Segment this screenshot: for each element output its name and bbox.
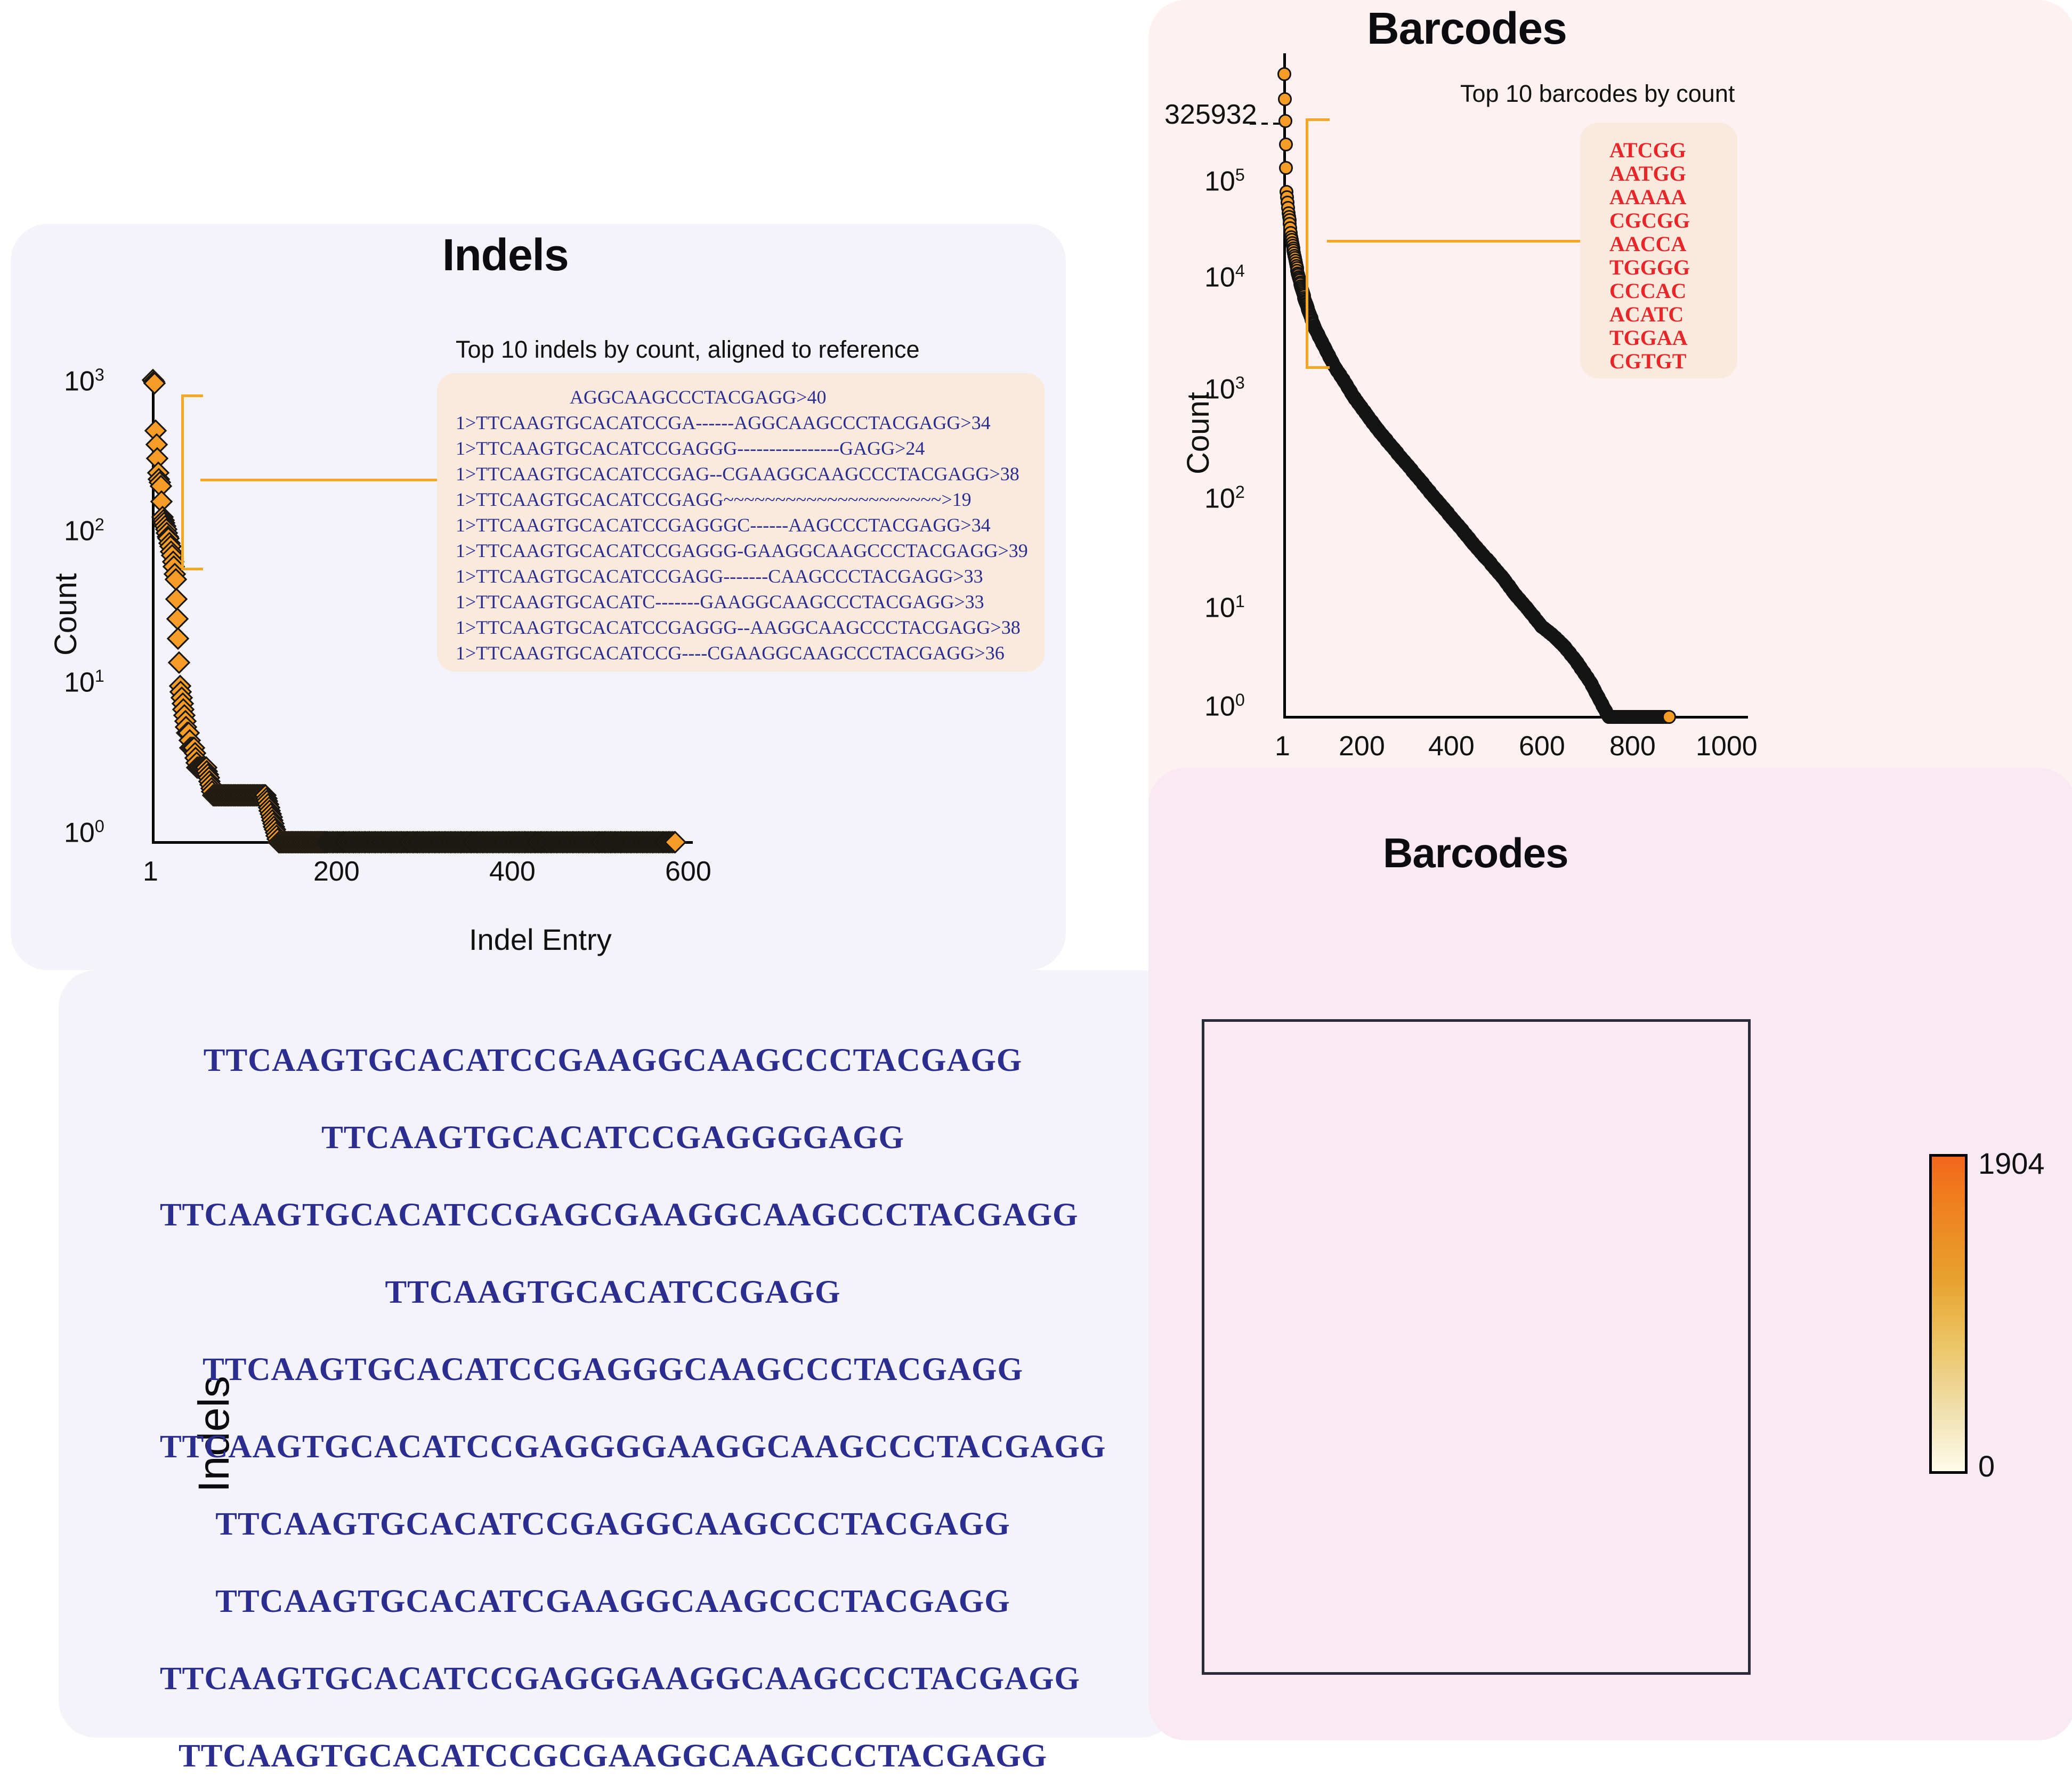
indel-xtick-1: 1 <box>143 856 158 887</box>
barcode-point <box>1278 114 1292 128</box>
barcode-list-item: CCCAC <box>1609 278 1686 303</box>
barcode-xtick-200: 200 <box>1339 730 1385 762</box>
barcode-list-item: TGGAA <box>1609 325 1688 350</box>
barcode-ytick-1e1: 101 <box>1204 592 1245 624</box>
indel-alignment-line: 1>TTCAAGTGCACATCCGAG--CGAAGGCAAGCCCTACGA… <box>456 463 1019 485</box>
indel-xtick-400: 400 <box>489 856 536 887</box>
indel-alignment-line: 1>TTCAAGTGCACATCCGA------AGGCAAGCCCTACGA… <box>456 412 991 434</box>
indel-sequence-row: TTCAAGTGCACATCCGAGGGAAGGCAAGCCCTACGAGG <box>160 1660 1066 1698</box>
barcode-inset-title: Top 10 barcodes by count <box>1460 80 1735 108</box>
indel-callout-bracket <box>181 394 203 570</box>
barcode-point <box>1279 138 1293 151</box>
indel-sequence-row: TTCAAGTGCACATCCGAAGGCAAGCCCTACGAGG <box>160 1042 1066 1079</box>
heatmap-title: Barcodes <box>1383 829 1568 877</box>
colorbar-max-label: 1904 <box>1978 1146 2045 1181</box>
indel-y-axis-label: Count <box>48 573 84 656</box>
indel-ytick-10: 101 <box>64 666 104 698</box>
barcode-y-axis-label: Count <box>1180 392 1216 474</box>
indel-ytick-100: 102 <box>64 515 104 547</box>
indel-sequence-row: TTCAAGTGCACATCCGCGAAGGCAAGCCCTACGAGG <box>160 1738 1066 1775</box>
indel-sequence-row: TTCAAGTGCACATCCGAGGCAAGCCCTACGAGG <box>160 1506 1066 1543</box>
indel-alignment-line: 1>TTCAAGTGCACATCCGAGGG-GAAGGCAAGCCCTACGA… <box>456 539 1028 562</box>
barcode-xtick-400: 400 <box>1428 730 1475 762</box>
barcode-list-item: ACATC <box>1609 302 1683 327</box>
barcode-xtick-800: 800 <box>1609 730 1656 762</box>
indel-sequence-row: TTCAAGTGCACATCCGAGG <box>160 1274 1066 1311</box>
indel-alignment-line: 1>TTCAAGTGCACATCCG----CGAAGGCAAGCCCTACGA… <box>456 642 1005 664</box>
barcode-point <box>1278 92 1292 106</box>
indel-sequence-row: TTCAAGTGCACATCCGAGGGGAGG <box>160 1119 1066 1157</box>
indel-sequence-row: TTCAAGTGCACATCGAAGGCAAGCCCTACGAGG <box>160 1583 1066 1620</box>
indel-alignment-line: 1>TTCAAGTGCACATCCGAGG~~~~~~~~~~~~~~~~~~~… <box>456 488 972 511</box>
indel-alignment-line: 1>TTCAAGTGCACATCCGAGGG----------------GA… <box>456 437 925 459</box>
barcodes-panel-title: Barcodes <box>1367 3 1567 54</box>
barcode-callout-line <box>1327 240 1582 243</box>
barcode-xtick-1000: 1000 <box>1696 730 1758 762</box>
indel-sequence-row: TTCAAGTGCACATCCGAGGGGAAGGCAAGCCCTACGAGG <box>160 1429 1066 1466</box>
barcode-list-item: AAAAA <box>1609 184 1686 209</box>
indel-inset-title: Top 10 indels by count, aligned to refer… <box>456 336 920 364</box>
indel-sequence-row: TTCAAGTGCACATCCGAGCGAAGGCAAGCCCTACGAGG <box>160 1197 1066 1234</box>
indel-xtick-200: 200 <box>313 856 360 887</box>
indel-x-axis-label: Indel Entry <box>469 922 612 957</box>
indel-sequence-row: TTCAAGTGCACATCCGAGGGCAAGCCCTACGAGG <box>160 1351 1066 1389</box>
barcode-xtick-1: 1 <box>1275 730 1290 762</box>
barcode-list-item: TGGGG <box>1609 255 1690 280</box>
barcode-ytick-1e4: 104 <box>1204 261 1245 293</box>
barcode-ytick-1e0: 100 <box>1204 690 1245 722</box>
indels-panel-title: Indels <box>442 229 569 281</box>
barcode-point <box>1662 710 1676 724</box>
barcode-list-item: CGCGG <box>1609 208 1690 233</box>
barcode-x-axis <box>1283 716 1748 719</box>
barcode-xtick-600: 600 <box>1519 730 1565 762</box>
barcode-indel-heatmap <box>1202 1019 1751 1675</box>
indel-alignment-line: 1>TTCAAGTGCACATCCGAGG-------CAAGCCCTACGA… <box>456 565 983 587</box>
indel-ytick-1: 100 <box>64 817 104 849</box>
barcode-list-item: ATCGG <box>1609 138 1686 163</box>
barcode-list-item: CGTGT <box>1609 349 1686 374</box>
barcode-list-item: AACCA <box>1609 231 1686 256</box>
barcode-ytick-dash <box>1250 123 1281 125</box>
indel-alignment-line: 1>TTCAAGTGCACATC-------GAAGGCAAGCCCTACGA… <box>456 591 984 613</box>
barcode-ytick-1e2: 102 <box>1204 482 1245 514</box>
barcode-ytick-325932: 325932 <box>1164 99 1257 131</box>
colorbar-min-label: 0 <box>1978 1449 1995 1483</box>
indel-alignment-line: AGGCAAGCCCTACGAGG>40 <box>456 386 826 408</box>
indel-ytick-1000: 103 <box>64 365 104 397</box>
indel-alignment-line: 1>TTCAAGTGCACATCCGAGGG--AAGGCAAGCCCTACGA… <box>456 616 1021 639</box>
barcode-ytick-1e5: 105 <box>1204 165 1245 197</box>
barcode-callout-bracket <box>1306 118 1330 369</box>
barcode-list-item: AATGG <box>1609 161 1686 186</box>
indel-alignment-line: 1>TTCAAGTGCACATCCGAGGGC------AAGCCCTACGA… <box>456 514 991 536</box>
colorbar <box>1929 1154 1968 1474</box>
indel-xtick-600: 600 <box>665 856 711 887</box>
indel-callout-line <box>200 479 438 481</box>
barcode-y-axis <box>1283 53 1286 717</box>
